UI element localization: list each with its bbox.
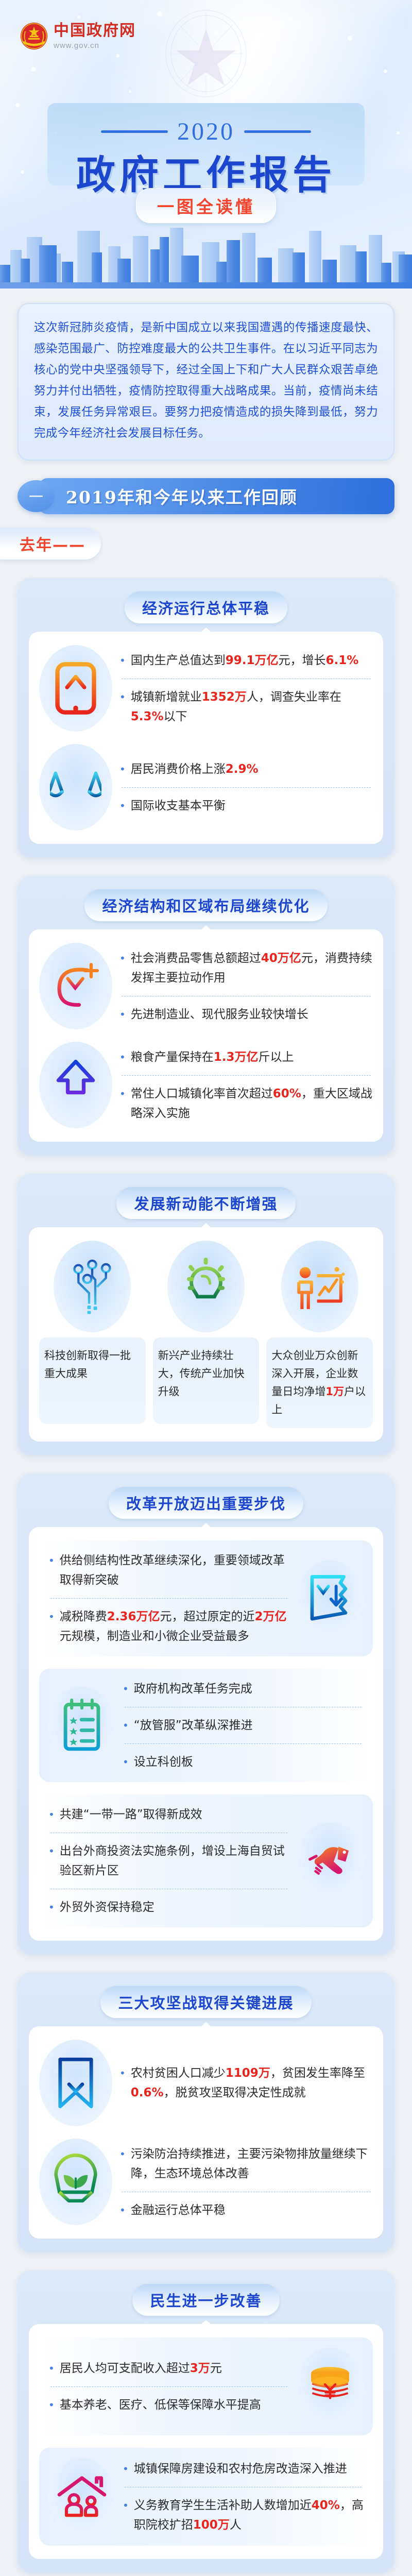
bullet-item: • 外贸外资保持稳定 (48, 1897, 289, 1917)
bullet-content: 国际收支基本平衡 (131, 796, 226, 816)
bullet-group: • 政府机构改革任务完成 • “放管服”改革纵深推进 • 设立科创板 (48, 1679, 364, 1772)
bullet-item: • “放管服”改革纵深推进 (123, 1716, 364, 1735)
bullet-group: • 社会消费品零售总额超过40万亿元，消费持续发挥主要拉动作用 • 先进制造业、… (39, 943, 373, 1029)
bullet-text: 粮食产量保持在 (131, 1050, 214, 1064)
bullet-text: 斤以上 (259, 1050, 294, 1064)
bullet-text: 义务教育学生生活补助人数增加近 (134, 2499, 312, 2512)
bullet-dot-icon: • (119, 1005, 126, 1024)
block-panel: • 居民人均可支配收入超过3万元 • 基本养老、医疗、低保等保障水平提高 • 城… (29, 2324, 383, 2559)
tinted-group: • 城镇保障房建设和农村危房改造深入推进 • 义务教育学生生活补助人数增加近40… (39, 2448, 373, 2546)
bullet-content: 义务教育学生生活补助人数增加近40%，高职院校扩招100万人 (134, 2496, 364, 2535)
bullet-dot-icon: • (119, 2200, 126, 2220)
bullet-text: 农村贫困人口减少 (131, 2066, 226, 2080)
bullet-dot-icon: • (119, 1084, 126, 1123)
snow-dot (129, 90, 131, 93)
lightbulb-icon (180, 1258, 232, 1315)
column-item: 大众创业万众创新深入开展，企业数量日均净增1万户以上 (266, 1241, 373, 1428)
hero-banner: 中国政府网 www.gov.cn 2020 政府工作报告 一图全读懂 (0, 0, 412, 289)
content-block: 经济运行总体平稳 • 国内生产总值达到99.1万亿元，增长6.1% • 城镇新增… (18, 578, 394, 857)
bullet-text: “放管服”改革纵深推进 (134, 1719, 253, 1732)
bullet-item: • 共建“一带一路”取得新成效 (48, 1805, 289, 1824)
bullet-text: 城镇新增就业 (131, 690, 202, 704)
house-family-icon (56, 2468, 108, 2526)
presenter-chart-icon (294, 1258, 346, 1315)
bullet-divider (122, 679, 371, 679)
bullet-divider (50, 1889, 287, 1889)
bullet-dot-icon: • (119, 687, 126, 726)
bullet-dot-icon: • (48, 2359, 55, 2378)
group-spacer (39, 1656, 373, 1669)
group-spacer (39, 2126, 373, 2139)
group-spacer (39, 1029, 373, 1042)
bullet-text: 居民消费价格上涨 (131, 762, 226, 776)
bullet-divider (125, 2487, 362, 2487)
content-block: 发展新动能不断增强 科技创新取得一批重大成果 新兴产业持续壮大，传统产业加快升级 (18, 1174, 394, 1455)
bullet-divider (122, 996, 371, 996)
tinted-group: • 共建“一带一路”取得新成效 • 出台外商投资法实施条例，增设上海自贸试验区新… (39, 1794, 373, 1927)
highlight-value: 2.9% (226, 762, 259, 776)
bullet-divider (50, 1833, 287, 1833)
checklist-icon (56, 1697, 108, 1754)
bullet-list: • 国内生产总值达到99.1万亿元，增长6.1% • 城镇新增就业1352万人，… (119, 651, 373, 726)
bullet-text: ，贫困发生率降至 (270, 2066, 365, 2080)
bullet-content: 农村贫困人口减少1109万，贫困发生率降至0.6%，脱贫攻坚取得决定性成就 (131, 2063, 373, 2103)
snow-dot (116, 54, 119, 58)
tinted-group: • 居民人均可支配收入超过3万元 • 基本养老、医疗、低保等保障水平提高 (39, 2337, 373, 2435)
group-spacer (39, 732, 373, 744)
section-number-badge: 一 (18, 480, 55, 512)
bullet-dot-icon: • (119, 1047, 126, 1067)
highlight-value: 2.36万亿 (107, 1610, 160, 1623)
bullet-group: • 共建“一带一路”取得新成效 • 出台外商投资法实施条例，增设上海自贸试验区新… (48, 1805, 364, 1917)
bullet-divider (125, 1743, 362, 1744)
group-spacer (39, 2435, 373, 2448)
bullet-content: “放管服”改革纵深推进 (134, 1716, 253, 1735)
bullet-text: 居民人均可支配收入超过 (60, 2362, 190, 2375)
bullet-content: 居民消费价格上涨2.9% (131, 759, 259, 779)
bullet-item: • 居民人均可支配收入超过3万元 (48, 2359, 289, 2378)
block-panel: • 社会消费品零售总额超过40万亿元，消费持续发挥主要拉动作用 • 先进制造业、… (29, 929, 383, 1142)
bullet-item: • 国际收支基本平衡 (119, 796, 373, 816)
bullet-text: 出台外商投资法实施条例，增设上海自贸试验区新片区 (60, 1844, 285, 1877)
column-caption: 新兴产业持续壮大，传统产业加快升级 (153, 1337, 260, 1424)
bullet-text: 以下 (164, 710, 187, 723)
bullet-text: 基本养老、医疗、低保等保障水平提高 (60, 2398, 261, 2412)
bottom-spacer (0, 2572, 412, 2576)
bullet-text: 科技创新取得一批重大成果 (44, 1349, 131, 1380)
bullet-dot-icon: • (119, 759, 126, 779)
block-title: 发展新动能不断增强 (116, 1187, 295, 1219)
yuan-plus-icon (50, 957, 101, 1015)
coin-stack-icon (304, 2358, 356, 2415)
bullet-group: • 污染防治持续推进，主要污染物排放量继续下降，生态环境总体改善 • 金融运行总… (39, 2139, 373, 2225)
highlight-value: 1109万 (226, 2066, 270, 2080)
content-block: 民生进一步改善 • 居民人均可支配收入超过3万元 • 基本养老、医疗、低保等保障… (18, 2270, 394, 2572)
balance-scale-icon (50, 758, 101, 816)
bullet-list: • 共建“一带一路”取得新成效 • 出台外商投资法实施条例，增设上海自贸试验区新… (48, 1805, 289, 1917)
bullet-content: 供给侧结构性改革继续深化，重要领域改革取得新突破 (60, 1551, 289, 1590)
column-item: 新兴产业持续壮大，传统产业加快升级 (153, 1241, 260, 1428)
rule-right (244, 130, 311, 133)
content-block: 经济结构和区域布局继续优化 • 社会消费品零售总额超过40万亿元，消费持续发挥主… (18, 876, 394, 1155)
bullet-text: 先进制造业、现代服务业较快增长 (131, 1008, 308, 1021)
bullet-item: • 供给侧结构性改革继续深化，重要领域改革取得新突破 (48, 1551, 289, 1590)
bullet-dot-icon: • (123, 1752, 129, 1772)
bullet-list: • 社会消费品零售总额超过40万亿元，消费持续发挥主要拉动作用 • 先进制造业、… (119, 948, 373, 1024)
bullet-text: 污染防治持续推进，主要污染物排放量继续下降，生态环境总体改善 (131, 2147, 368, 2180)
bullet-text: 政府机构改革任务完成 (134, 1682, 252, 1696)
site-name: 中国政府网 (54, 23, 136, 39)
column-caption: 科技创新取得一批重大成果 (39, 1337, 146, 1424)
bullet-dot-icon: • (123, 2459, 129, 2479)
bullet-item: • 出台外商投资法实施条例，增设上海自贸试验区新片区 (48, 1841, 289, 1880)
bullet-content: 设立科创板 (134, 1752, 193, 1772)
bullet-dot-icon: • (119, 948, 126, 988)
national-emblem-icon (20, 22, 48, 50)
icon-container (167, 1241, 245, 1332)
bullet-text: 设立科创板 (134, 1755, 193, 1769)
bullet-text: 常住人口城镇化率首次超过 (131, 1087, 273, 1100)
bullet-list: • 粮食产量保持在1.3万亿斤以上 • 常住人口城镇化率首次超过60%，重大区域… (119, 1047, 373, 1123)
icon-container (297, 1822, 364, 1900)
bullet-item: • 城镇保障房建设和农村危房改造深入推进 (123, 2459, 364, 2479)
snow-dot (384, 70, 387, 73)
ribbon-down-icon (50, 2054, 101, 2112)
bullet-item: • 义务教育学生生活补助人数增加近40%，高职院校扩招100万人 (123, 2496, 364, 2535)
bullet-content: 共建“一带一路”取得新成效 (60, 1805, 202, 1824)
year-tag: 去年—— (0, 528, 101, 560)
bullet-text: 社会消费品零售总额超过 (131, 952, 261, 965)
bullet-group: • 粮食产量保持在1.3万亿斤以上 • 常住人口城镇化率首次超过60%，重大区域… (39, 1042, 373, 1128)
bullet-text: 国内生产总值达到 (131, 654, 226, 667)
snow-dot (15, 103, 20, 107)
section-banner: 2019年和今年以来工作回顾 一 (18, 478, 394, 514)
highlight-value: 40万亿 (261, 952, 301, 965)
column-caption: 大众创业万众创新深入开展，企业数量日均净增1万户以上 (266, 1337, 373, 1428)
highlight-value: 3万 (190, 2362, 210, 2375)
highlight-value: 1万 (325, 1385, 344, 1398)
bullet-content: 国内生产总值达到99.1万亿元，增长6.1% (131, 651, 359, 670)
yuan-down-doc-icon (304, 1570, 356, 1628)
hero-year-row: 2020 (0, 117, 412, 146)
arrow-up-bars-icon (50, 1056, 101, 1114)
three-column-grid: 科技创新取得一批重大成果 新兴产业持续壮大，传统产业加快升级 大众创业万众创新深… (39, 1241, 373, 1428)
icon-container (281, 1241, 358, 1332)
block-title: 民生进一步改善 (132, 2284, 279, 2316)
bullet-content: 常住人口城镇化率首次超过60%，重大区域战略深入实施 (131, 1084, 373, 1123)
bullet-divider (50, 1598, 287, 1599)
bullet-item: • 基本养老、医疗、低保等保障水平提高 (48, 2395, 289, 2415)
snow-dot (268, 82, 271, 86)
highlight-value: 99.1万亿 (226, 654, 279, 667)
bullet-group: • 居民人均可支配收入超过3万元 • 基本养老、医疗、低保等保障水平提高 (48, 2348, 364, 2425)
bullet-divider (125, 1707, 362, 1707)
city-skyline-decoration (0, 222, 412, 289)
icon-container (39, 2040, 112, 2126)
highlight-value: 6.1% (326, 654, 359, 667)
block-title: 经济结构和区域布局继续优化 (84, 889, 327, 921)
highlight-value: 2万亿 (255, 1610, 287, 1623)
eco-leaf-icon (50, 2153, 101, 2211)
bullet-item: • 设立科创板 (123, 1752, 364, 1772)
hero-year: 2020 (177, 117, 235, 146)
bullet-text: 元 (210, 2362, 222, 2375)
bullet-group: • 居民消费价格上涨2.9% • 国际收支基本平衡 (39, 744, 373, 831)
bullet-item: • 居民消费价格上涨2.9% (119, 759, 373, 779)
highlight-value: 1.3万亿 (214, 1050, 259, 1064)
snow-dot (77, 15, 80, 19)
bullet-text: 国际收支基本平衡 (131, 799, 226, 812)
bullet-text: 金融运行总体平稳 (131, 2204, 226, 2217)
snow-dot (157, 11, 162, 16)
bullet-content: 减税降费2.36万亿元，超过原定的近2万亿元规模，制造业和小微企业受益最多 (60, 1607, 289, 1646)
bullet-text: 人 (230, 2518, 242, 2532)
bullet-list: • 居民消费价格上涨2.9% • 国际收支基本平衡 (119, 759, 373, 816)
year-tag-label: 去年—— (20, 532, 85, 555)
bullet-dot-icon: • (119, 796, 126, 816)
handshake-icon (304, 1832, 356, 1890)
bullet-text: 人，调查失业率在 (247, 690, 341, 704)
bullet-content: 金融运行总体平稳 (131, 2200, 226, 2220)
highlight-value: 100万 (193, 2518, 230, 2532)
bullet-text: 外贸外资保持稳定 (60, 1901, 154, 1914)
bullet-content: 基本养老、医疗、低保等保障水平提高 (60, 2395, 261, 2415)
bullet-content: 城镇新增就业1352万人，调查失业率在5.3%以下 (131, 687, 373, 726)
bullet-group: • 农村贫困人口减少1109万，贫困发生率降至0.6%，脱贫攻坚取得决定性成就 (39, 2040, 373, 2126)
content-block: 改革开放迈出重要步伐 • 供给侧结构性改革继续深化，重要领域改革取得新突破 • … (18, 1473, 394, 1954)
highlight-value: 60% (273, 1087, 301, 1100)
bullet-item: • 减税降费2.36万亿元，超过原定的近2万亿元规模，制造业和小微企业受益最多 (48, 1607, 289, 1646)
bullet-text: 元规模，制造业和小微企业受益最多 (60, 1630, 249, 1643)
bullet-dot-icon: • (123, 1716, 129, 1735)
column-item: 科技创新取得一批重大成果 (39, 1241, 146, 1428)
bullet-divider (50, 2386, 287, 2387)
snow-dot (348, 36, 352, 41)
bullet-content: 居民人均可支配收入超过3万元 (60, 2359, 222, 2378)
bullet-group: • 国内生产总值达到99.1万亿元，增长6.1% • 城镇新增就业1352万人，… (39, 645, 373, 732)
bullet-list: • 污染防治持续推进，主要污染物排放量继续下降，生态环境总体改善 • 金融运行总… (119, 2144, 373, 2220)
bullet-group: • 供给侧结构性改革继续深化，重要领域改革取得新突破 • 减税降费2.36万亿元… (48, 1551, 364, 1646)
bullet-dot-icon: • (48, 1607, 55, 1646)
bullet-item: • 金融运行总体平稳 (119, 2200, 373, 2220)
bullet-text: 新兴产业持续壮大，传统产业加快升级 (158, 1349, 245, 1398)
bullet-dot-icon: • (48, 1897, 55, 1917)
icon-container (48, 1687, 115, 1764)
bullet-divider (122, 1075, 371, 1076)
section-title: 2019年和今年以来工作回顾 (66, 484, 298, 509)
bullet-text: 共建“一带一路”取得新成效 (60, 1808, 202, 1821)
highlight-value: 40% (312, 2499, 340, 2512)
bullet-dot-icon: • (123, 1679, 129, 1699)
bullet-list: • 居民人均可支配收入超过3万元 • 基本养老、医疗、低保等保障水平提高 (48, 2359, 289, 2415)
icon-container (39, 943, 112, 1029)
icon-container (48, 2458, 115, 2535)
bullet-list: • 供给侧结构性改革继续深化，重要领域改革取得新突破 • 减税降费2.36万亿元… (48, 1551, 289, 1646)
block-panel: • 国内生产总值达到99.1万亿元，增长6.1% • 城镇新增就业1352万人，… (29, 632, 383, 844)
hero-subtitle: 一图全读懂 (136, 188, 276, 223)
bullet-content: 城镇保障房建设和农村危房改造深入推进 (134, 2459, 347, 2479)
bullet-content: 粮食产量保持在1.3万亿斤以上 (131, 1047, 294, 1067)
site-logo[interactable]: 中国政府网 www.gov.cn (20, 22, 136, 50)
bullet-item: • 粮食产量保持在1.3万亿斤以上 (119, 1047, 373, 1067)
bullet-item: • 国内生产总值达到99.1万亿元，增长6.1% (119, 651, 373, 670)
bullet-list: • 农村贫困人口减少1109万，贫困发生率降至0.6%，脱贫攻坚取得决定性成就 (119, 2063, 373, 2103)
section-title-bar: 2019年和今年以来工作回顾 (39, 478, 394, 514)
bullet-dot-icon: • (119, 651, 126, 670)
icon-container (39, 2139, 112, 2225)
block-title: 改革开放迈出重要步伐 (109, 1487, 303, 1519)
intro-paragraph: 这次新冠肺炎疫情，是新中国成立以来我国遭遇的传播速度最快、感染范围最广、防控难度… (34, 317, 378, 444)
tinted-group: • 政府机构改革任务完成 • “放管服”改革纵深推进 • 设立科创板 (39, 1669, 373, 1782)
highlight-value: 0.6% (131, 2086, 164, 2099)
bullet-item: • 污染防治持续推进，主要污染物排放量继续下降，生态环境总体改善 (119, 2144, 373, 2183)
bullet-text: 城镇保障房建设和农村危房改造深入推进 (134, 2462, 347, 2476)
bullet-dot-icon: • (48, 2395, 55, 2415)
highlight-value: 1352万 (202, 690, 247, 704)
bullet-dot-icon: • (48, 1551, 55, 1590)
icon-container (54, 1241, 131, 1332)
bullet-content: 先进制造业、现代服务业较快增长 (131, 1005, 308, 1024)
snow-dot (214, 31, 218, 35)
icon-container (39, 645, 112, 732)
bullet-item: • 先进制造业、现代服务业较快增长 (119, 1005, 373, 1024)
icon-container (297, 2348, 364, 2425)
snow-dot (31, 67, 36, 72)
bullet-dot-icon: • (119, 2063, 126, 2103)
bullet-content: 外贸外资保持稳定 (60, 1897, 154, 1917)
block-title: 三大攻坚战取得关键进展 (100, 1986, 311, 2018)
bullet-content: 社会消费品零售总额超过40万亿元，消费持续发挥主要拉动作用 (131, 948, 373, 988)
bullet-dot-icon: • (48, 1841, 55, 1880)
icon-container (39, 744, 112, 831)
site-url: www.gov.cn (54, 42, 136, 49)
bullet-list: • 城镇保障房建设和农村危房改造深入推进 • 义务教育学生生活补助人数增加近40… (123, 2459, 364, 2535)
content-blocks: 经济运行总体平稳 • 国内生产总值达到99.1万亿元，增长6.1% • 城镇新增… (0, 578, 412, 2576)
icon-container (297, 1560, 364, 1637)
group-spacer (39, 1782, 373, 1794)
bullet-text: 元，超过原定的近 (160, 1610, 255, 1623)
bullet-item: • 社会消费品零售总额超过40万亿元，消费持续发挥主要拉动作用 (119, 948, 373, 988)
content-block: 三大攻坚战取得关键进展 • 农村贫困人口减少1109万，贫困发生率降至0.6%，… (18, 1973, 394, 2252)
bullet-item: • 城镇新增就业1352万人，调查失业率在5.3%以下 (119, 687, 373, 726)
intro-card: 这次新冠肺炎疫情，是新中国成立以来我国遭遇的传播速度最快、感染范围最广、防控难度… (18, 303, 394, 461)
icon-container (39, 1042, 112, 1128)
bullet-divider (122, 787, 371, 788)
bullet-dot-icon: • (48, 1805, 55, 1824)
intro-section: 这次新冠肺炎疫情，是新中国成立以来我国遭遇的传播速度最快、感染范围最广、防控难度… (0, 289, 412, 461)
bullet-dot-icon: • (123, 2496, 129, 2535)
block-panel: 科技创新取得一批重大成果 新兴产业持续壮大，传统产业加快升级 大众创业万众创新深… (29, 1227, 383, 1442)
rule-left (101, 130, 168, 133)
bullet-text: ，脱贫攻坚取得决定性成就 (164, 2086, 306, 2099)
bullet-text: 元，增长 (279, 654, 326, 667)
bullet-content: 出台外商投资法实施条例，增设上海自贸试验区新片区 (60, 1841, 289, 1880)
block-title: 经济运行总体平稳 (125, 591, 287, 623)
bullet-item: • 常住人口城镇化率首次超过60%，重大区域战略深入实施 (119, 1084, 373, 1123)
bullet-content: 政府机构改革任务完成 (134, 1679, 252, 1699)
bullet-dot-icon: • (119, 2144, 126, 2183)
bullet-group: • 城镇保障房建设和农村危房改造深入推进 • 义务教育学生生活补助人数增加近40… (48, 2458, 364, 2535)
block-panel: • 供给侧结构性改革继续深化，重要领域改革取得新突破 • 减税降费2.36万亿元… (29, 1527, 383, 1941)
bullet-divider (122, 2192, 371, 2192)
bullet-list: • 政府机构改革任务完成 • “放管服”改革纵深推进 • 设立科创板 (123, 1679, 364, 1772)
highlight-value: 5.3% (131, 710, 164, 723)
bullet-item: • 农村贫困人口减少1109万，贫困发生率降至0.6%，脱贫攻坚取得决定性成就 (119, 2063, 373, 2103)
block-panel: • 农村贫困人口减少1109万，贫困发生率降至0.6%，脱贫攻坚取得决定性成就 … (29, 2026, 383, 2239)
bullet-content: 污染防治持续推进，主要污染物排放量继续下降，生态环境总体改善 (131, 2144, 373, 2183)
bullet-text: 供给侧结构性改革继续深化，重要领域改革取得新突破 (60, 1554, 285, 1587)
arrow-up-box-icon (50, 659, 101, 717)
bullet-item: • 政府机构改革任务完成 (123, 1679, 364, 1699)
circuit-node-icon (66, 1258, 118, 1315)
tinted-group: • 供给侧结构性改革继续深化，重要领域改革取得新突破 • 减税降费2.36万亿元… (39, 1540, 373, 1656)
snow-dot (288, 18, 292, 21)
bullet-text: 减税降费 (60, 1610, 107, 1623)
